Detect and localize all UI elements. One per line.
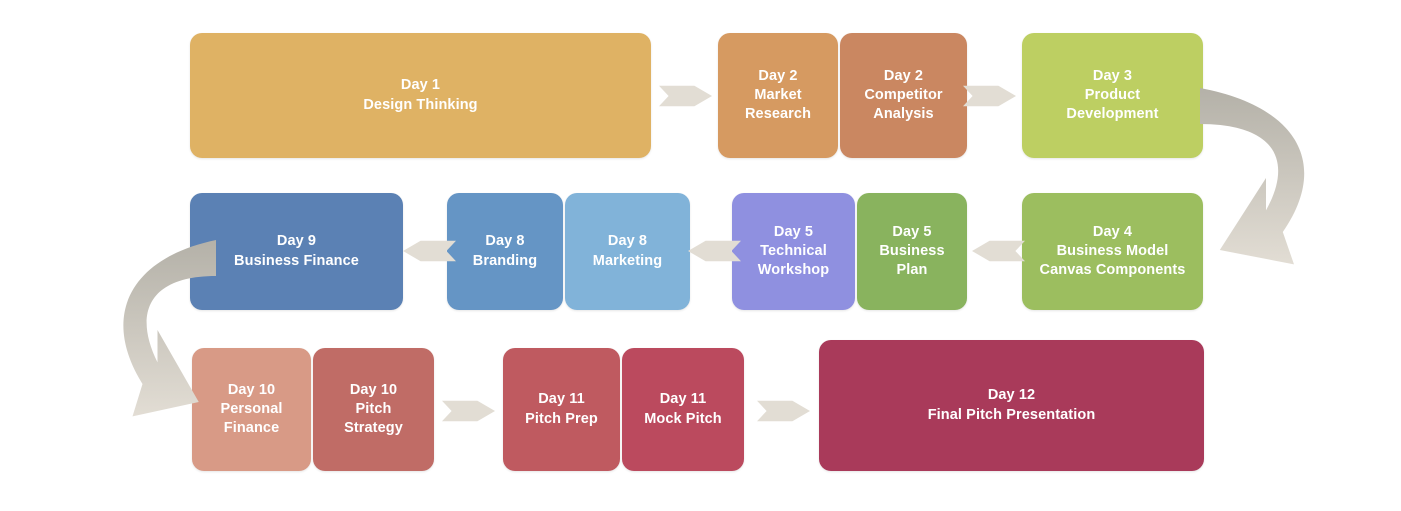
node-day-4-business-model-canvas[interactable]: Day 4 Business Model Canvas Components [1022, 193, 1203, 310]
node-label: Day 8 Marketing [593, 232, 662, 270]
node-day-5-technical-workshop[interactable]: Day 5 Technical Workshop [732, 193, 855, 310]
node-label: Day 11 Pitch Prep [525, 390, 598, 428]
connector-arrow-day11mock-to-day12-icon [757, 395, 810, 427]
connector-arrow-day2competitor-to-day3-icon [963, 80, 1016, 112]
node-label: Day 3 Product Development [1066, 67, 1158, 124]
node-day-1-design-thinking[interactable]: Day 1 Design Thinking [190, 33, 651, 158]
node-label: Day 10 Pitch Strategy [344, 381, 403, 438]
connector-curve-day3-to-day4-icon [1196, 88, 1336, 268]
node-label: Day 8 Branding [473, 232, 537, 270]
node-day-12-final-pitch-presentation[interactable]: Day 12 Final Pitch Presentation [819, 340, 1204, 471]
node-day-8-marketing[interactable]: Day 8 Marketing [565, 193, 690, 310]
node-day-3-product-development[interactable]: Day 3 Product Development [1022, 33, 1203, 158]
node-day-11-mock-pitch[interactable]: Day 11 Mock Pitch [622, 348, 744, 471]
node-label: Day 5 Technical Workshop [758, 223, 829, 280]
node-day-8-branding[interactable]: Day 8 Branding [447, 193, 563, 310]
node-label: Day 10 Personal Finance [220, 381, 282, 438]
node-day-9-business-finance[interactable]: Day 9 Business Finance [190, 193, 403, 310]
node-label: Day 11 Mock Pitch [644, 390, 722, 428]
connector-arrow-day1-to-day2-icon [659, 80, 712, 112]
node-label: Day 4 Business Model Canvas Components [1040, 223, 1186, 280]
node-label: Day 2 Competitor Analysis [864, 67, 942, 124]
node-label: Day 5 Business Plan [879, 223, 944, 280]
node-label: Day 12 Final Pitch Presentation [928, 386, 1096, 424]
node-day-2-competitor-analysis[interactable]: Day 2 Competitor Analysis [840, 33, 967, 158]
flowchart-canvas: Day 1 Design ThinkingDay 2 Market Resear… [0, 0, 1401, 511]
node-day-11-pitch-prep[interactable]: Day 11 Pitch Prep [503, 348, 620, 471]
connector-arrow-day4-to-day5business-icon [972, 235, 1025, 267]
node-label: Day 2 Market Research [745, 67, 811, 124]
connector-arrow-day10pitch-to-day11-icon [442, 395, 495, 427]
node-label: Day 1 Design Thinking [363, 76, 477, 114]
node-label: Day 9 Business Finance [234, 232, 359, 270]
node-day-10-pitch-strategy[interactable]: Day 10 Pitch Strategy [313, 348, 434, 471]
node-day-10-personal-finance[interactable]: Day 10 Personal Finance [192, 348, 311, 471]
node-day-2-market-research[interactable]: Day 2 Market Research [718, 33, 838, 158]
node-day-5-business-plan[interactable]: Day 5 Business Plan [857, 193, 967, 310]
